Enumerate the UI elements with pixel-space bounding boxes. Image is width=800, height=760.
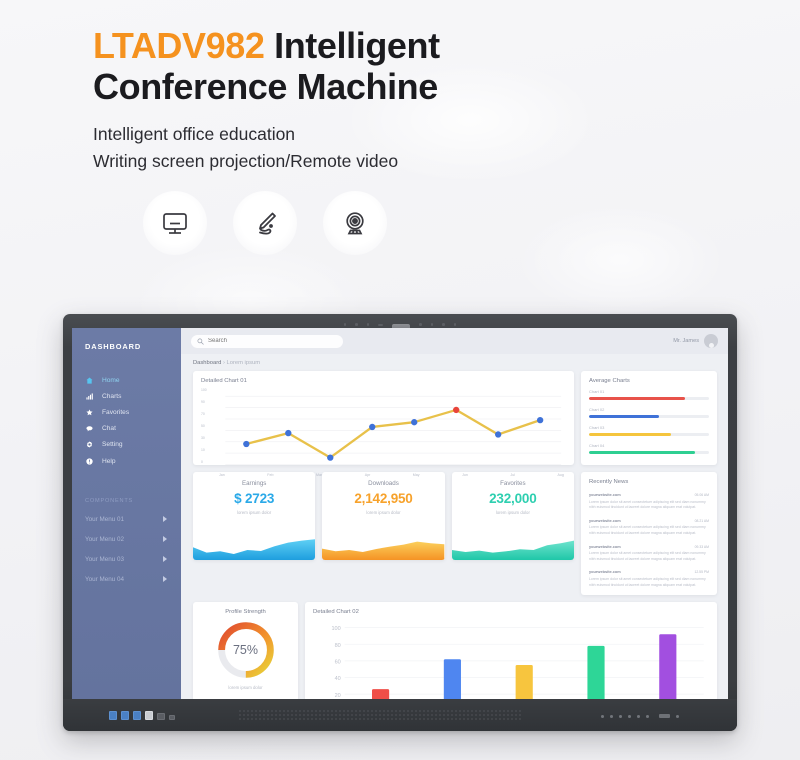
control-dot[interactable] — [619, 715, 622, 718]
sidebar-item-favorites[interactable]: Favorites — [72, 404, 181, 420]
card-title: Profile Strength — [201, 609, 290, 615]
svg-text:80: 80 — [335, 643, 341, 649]
chevron-right-icon — [163, 536, 167, 542]
sparkline-earnings — [193, 533, 315, 560]
dashboard-row-2: Earnings $ 2723 lorem ipsum dolor Downlo… — [193, 472, 717, 595]
stat-card-downloads: Downloads 2,142,950 lorem ipsum dolor — [322, 472, 444, 560]
hero-section: LTADV982 Intelligent Conference Machine … — [0, 0, 800, 175]
sidebar-submenu-3[interactable]: Your Menu 03 — [72, 549, 181, 569]
pen-writing-icon — [248, 206, 282, 240]
average-bar-row: Chart 04 — [589, 443, 709, 454]
sidebar-brand: DASHBOARD — [72, 339, 181, 351]
card-title: Detailed Chart 01 — [201, 378, 566, 384]
news-item-header: yourwebsite.com12.55 PM — [589, 569, 709, 574]
x-tick: Mar — [316, 473, 322, 477]
average-bar-row: Chart 02 — [589, 407, 709, 418]
webcam-icon — [338, 206, 372, 240]
x-tick: Feb — [267, 473, 273, 477]
y-tick: 10 — [201, 449, 217, 452]
news-body: Lorem ipsum dolor sit amet consectetuer … — [589, 551, 709, 562]
news-time: 09.33 AM — [695, 545, 709, 549]
x-tick: Apr — [365, 473, 371, 477]
stat-sub: lorem ipsum dolor — [326, 510, 440, 515]
product-model: LTADV982 — [93, 25, 265, 66]
average-bar-label: Chart 02 — [589, 407, 709, 412]
sidebar-submenu-label: Your Menu 02 — [85, 536, 124, 543]
news-item[interactable]: yourwebsite.com08.21 AMLorem ipsum dolor… — [589, 518, 709, 537]
feature-webcam — [323, 191, 387, 255]
sidebar-item-label: Favorites — [102, 409, 129, 416]
sidebar-section-header: Components — [85, 498, 181, 504]
news-time: 12.55 PM — [694, 570, 709, 574]
sparkline-downloads — [322, 533, 444, 560]
average-bar-row: Chart 03 — [589, 425, 709, 436]
x-tick: Jan — [219, 473, 225, 477]
info-circle-icon — [85, 458, 94, 465]
avatar[interactable] — [704, 334, 718, 348]
card-title: Detailed Chart 02 — [313, 609, 709, 615]
control-dot[interactable] — [628, 715, 631, 718]
control-dot[interactable] — [601, 715, 604, 718]
monitor-icon — [158, 206, 192, 240]
average-bar-fill — [589, 451, 695, 455]
card-profile-strength: Profile Strength — [193, 602, 298, 699]
donut-value: 75% — [215, 619, 277, 681]
stat-sub: lorem ipsum dolor — [197, 510, 311, 515]
news-source: yourwebsite.com — [589, 492, 621, 497]
bar-chart-svg: 100806040200Item 01Item 02Item 03Item 04… — [313, 621, 709, 699]
stat-title: Earnings — [197, 480, 311, 487]
dashboard-topbar: Mr. James — [181, 328, 728, 354]
device-bottom-bezel — [63, 699, 737, 731]
device-screen: DASHBOARD Home Charts Favorites Chat — [72, 328, 728, 699]
average-bar-fill — [589, 397, 685, 401]
svg-text:100: 100 — [331, 626, 340, 632]
y-tick: 70 — [201, 413, 217, 416]
x-tick: Aug — [558, 473, 564, 477]
stat-value: 2,142,950 — [326, 491, 440, 506]
news-item[interactable]: yourwebsite.com09.33 AMLorem ipsum dolor… — [589, 544, 709, 563]
sidebar-submenu-1[interactable]: Your Menu 01 — [72, 509, 181, 529]
line-chart-yaxis: 100 90 70 50 30 10 0 — [201, 389, 217, 465]
home-icon — [85, 377, 94, 384]
gear-icon — [85, 441, 94, 448]
user-menu[interactable]: Mr. James — [673, 334, 718, 348]
news-item[interactable]: yourwebsite.com12.55 PMLorem ipsum dolor… — [589, 569, 709, 588]
feature-monitor — [143, 191, 207, 255]
news-item-header: yourwebsite.com09.33 AM — [589, 544, 709, 549]
dashboard-row-3: Profile Strength — [193, 602, 717, 699]
average-bar-fill — [589, 433, 671, 437]
bar-chart: 100806040200Item 01Item 02Item 03Item 04… — [313, 621, 709, 699]
card-title: Recently News — [589, 479, 709, 485]
user-name: Mr. James — [673, 338, 699, 344]
average-bar-track — [589, 433, 709, 437]
news-source: yourwebsite.com — [589, 518, 621, 523]
average-bar-track — [589, 397, 709, 401]
search-input[interactable] — [208, 338, 337, 344]
usb-port-icon — [109, 711, 117, 720]
chevron-right-icon — [163, 576, 167, 582]
headline-rest: Intelligent — [265, 25, 440, 66]
donut-chart: 75% — [215, 619, 277, 681]
sidebar-item-label: Home — [102, 377, 120, 384]
breadcrumb-current: Lorem ipsum — [227, 360, 261, 366]
line-chart-xaxis: Jan Feb Mar Apr May Jun Jul Aug — [219, 473, 564, 477]
sidebar-item-home[interactable]: Home — [72, 372, 181, 388]
sidebar-submenu-2[interactable]: Your Menu 02 — [72, 529, 181, 549]
chat-bubble-icon — [85, 425, 94, 432]
sidebar-item-setting[interactable]: Setting — [72, 437, 181, 453]
svg-text:40: 40 — [335, 676, 341, 682]
sidebar-item-chat[interactable]: Chat — [72, 421, 181, 437]
news-source: yourwebsite.com — [589, 544, 621, 549]
search-box[interactable] — [191, 335, 343, 348]
news-body: Lorem ipsum dolor sit amet consectetuer … — [589, 577, 709, 588]
news-item-header: yourwebsite.com05.06 AM — [589, 492, 709, 497]
average-bar-track — [589, 415, 709, 419]
card-detailed-chart-01: Detailed Chart 01 100 90 70 50 30 10 0 — [193, 371, 574, 465]
audio-port-icon — [169, 715, 175, 720]
news-item-header: yourwebsite.com08.21 AM — [589, 518, 709, 523]
line-chart: 100 90 70 50 30 10 0 Jan Fe — [201, 389, 566, 477]
news-time: 08.21 AM — [695, 519, 709, 523]
average-bar-label: Chart 03 — [589, 425, 709, 430]
control-dot[interactable] — [646, 715, 649, 718]
y-tick: 90 — [201, 401, 217, 404]
sidebar-item-charts[interactable]: Charts — [72, 388, 181, 404]
page-title: LTADV982 Intelligent — [93, 26, 800, 67]
stat-card-earnings: Earnings $ 2723 lorem ipsum dolor — [193, 472, 315, 560]
page-title-line2: Conference Machine — [93, 67, 800, 108]
subtitle-line1: Intelligent office education — [93, 121, 800, 148]
x-tick: May — [413, 473, 420, 477]
power-label[interactable] — [659, 714, 670, 718]
stat-value: $ 2723 — [197, 491, 311, 506]
sidebar-item-help[interactable]: Help — [72, 453, 181, 469]
search-icon — [197, 332, 204, 350]
stat-card-favorites: Favorites 232,000 lorem ipsum dolor — [452, 472, 574, 560]
sidebar-submenu-label: Your Menu 01 — [85, 516, 124, 523]
dashboard-grid: Detailed Chart 01 100 90 70 50 30 10 0 — [181, 371, 728, 699]
sidebar-item-label: Setting — [102, 441, 123, 448]
news-source: yourwebsite.com — [589, 569, 621, 574]
sidebar-submenu-4[interactable]: Your Menu 04 — [72, 569, 181, 589]
sidebar-submenu-label: Your Menu 04 — [85, 576, 124, 583]
sidebar-item-label: Charts — [102, 393, 121, 400]
x-tick: Jul — [510, 473, 515, 477]
dashboard-row-1: Detailed Chart 01 100 90 70 50 30 10 0 — [193, 371, 717, 465]
y-tick: 50 — [201, 425, 217, 428]
sidebar-submenu-label: Your Menu 03 — [85, 556, 124, 563]
stat-sub: lorem ipsum dolor — [456, 510, 570, 515]
stat-value: 232,000 — [456, 491, 570, 506]
card-average-charts: Average Charts Chart 01Chart 02Chart 03C… — [581, 371, 717, 465]
lan-port-icon — [157, 713, 165, 720]
chevron-right-icon — [163, 516, 167, 522]
average-bar-fill — [589, 415, 659, 419]
sidebar-item-label: Help — [102, 458, 116, 465]
y-tick: 100 — [201, 389, 217, 392]
news-body: Lorem ipsum dolor sit amet consectetuer … — [589, 500, 709, 511]
news-item[interactable]: yourwebsite.com05.06 AMLorem ipsum dolor… — [589, 492, 709, 511]
average-bars: Chart 01Chart 02Chart 03Chart 04 — [589, 389, 709, 454]
control-dot[interactable] — [676, 715, 679, 718]
usb-port-icon — [133, 711, 141, 720]
conference-display-device: DASHBOARD Home Charts Favorites Chat — [63, 314, 737, 731]
svg-text:60: 60 — [335, 660, 341, 666]
control-dot[interactable] — [637, 715, 640, 718]
breadcrumb-root[interactable]: Dashboard — [193, 360, 221, 366]
hdmi-port-icon — [145, 711, 153, 720]
bar-chart-icon — [85, 393, 94, 400]
line-chart-svg — [201, 389, 566, 477]
stat-title: Downloads — [326, 480, 440, 487]
device-control-buttons[interactable] — [601, 714, 679, 718]
sidebar-item-label: Chat — [102, 425, 116, 432]
feature-writing — [233, 191, 297, 255]
subtitle-line2: Writing screen projection/Remote video — [93, 148, 800, 175]
stat-title: Favorites — [456, 480, 570, 487]
chevron-right-icon — [163, 556, 167, 562]
control-dot[interactable] — [610, 715, 613, 718]
speaker-grill — [238, 709, 522, 722]
average-bar-row: Chart 01 — [589, 389, 709, 400]
y-tick: 30 — [201, 437, 217, 440]
average-bar-track — [589, 451, 709, 455]
news-list: yourwebsite.com05.06 AMLorem ipsum dolor… — [589, 492, 709, 588]
x-tick: Jun — [462, 473, 468, 477]
sparkline-favorites — [452, 533, 574, 560]
average-bar-label: Chart 04 — [589, 443, 709, 448]
donut-sub: lorem ipsum dolor — [201, 685, 290, 690]
average-bar-label: Chart 01 — [589, 389, 709, 394]
device-top-bezel — [63, 314, 737, 324]
usb-port-icon — [121, 711, 129, 720]
news-body: Lorem ipsum dolor sit amet consectetuer … — [589, 525, 709, 536]
feature-icon-row — [0, 175, 800, 255]
y-tick: 0 — [201, 461, 217, 464]
dashboard-main: Mr. James Dashboard › Lorem ipsum Detail… — [181, 328, 728, 699]
news-time: 05.06 AM — [695, 493, 709, 497]
card-detailed-chart-02: Detailed Chart 02 100806040200Item 01Ite… — [305, 602, 717, 699]
card-title: Average Charts — [589, 378, 709, 384]
device-ports[interactable] — [109, 711, 175, 720]
sidebar-nav: Home Charts Favorites Chat Setting — [72, 372, 181, 469]
card-recently-news: Recently News yourwebsite.com05.06 AMLor… — [581, 472, 717, 595]
dashboard-sidebar: DASHBOARD Home Charts Favorites Chat — [72, 328, 181, 699]
breadcrumb: Dashboard › Lorem ipsum — [181, 354, 728, 371]
star-icon — [85, 409, 94, 416]
